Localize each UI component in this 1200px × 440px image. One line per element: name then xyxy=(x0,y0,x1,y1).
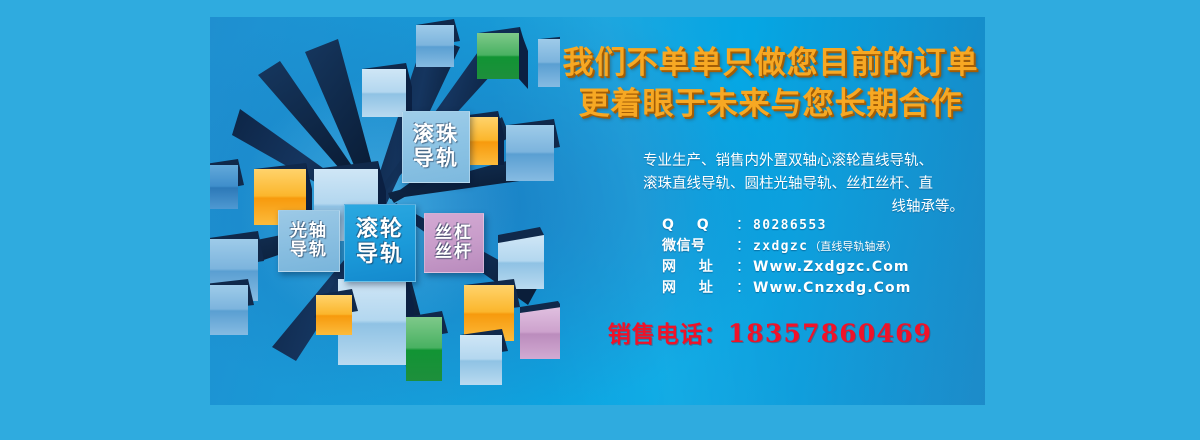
contact-label-wechat: 微信号 xyxy=(662,236,736,257)
contact-separator: ： xyxy=(736,257,750,278)
contact-value-website-2[interactable]: Www.Cnzxdg.Com xyxy=(753,278,911,299)
contact-label-website-2: 网 址 xyxy=(662,278,736,299)
product-tag-line2: 导轨 xyxy=(413,147,459,171)
contact-note-wechat: （直线导轨轴承） xyxy=(809,236,897,257)
contact-row-website-1: 网 址 ： Www.Zxdgzc.Com xyxy=(662,257,985,278)
sales-phone-number[interactable]: 18357860469 xyxy=(728,319,933,348)
description-line-2: 滚珠直线导轨、圆柱光轴导轨、丝杠丝杆、直 xyxy=(612,173,964,196)
promo-banner: 滚珠 导轨 光轴 导轨 滚轮 导轨 丝杠 丝杆 我们不单单只做您目前的订单 更着… xyxy=(210,17,985,405)
sales-phone: 销售电话：18357860469 xyxy=(560,315,980,349)
product-tag-gunlun-daogui: 滚轮 导轨 xyxy=(344,204,416,282)
contact-value-qq[interactable]: 80286553 xyxy=(753,215,827,236)
contact-separator: ： xyxy=(736,215,750,236)
headline-line-1: 我们不单单只做您目前的订单 xyxy=(558,43,983,84)
product-tag-line1: 光轴 xyxy=(290,222,328,241)
banner-content: 我们不单单只做您目前的订单 更着眼于未来与您长期合作 专业生产、销售内外置双轴心… xyxy=(550,17,985,405)
contact-info: Q Q ： 80286553 微信号 ： zxdgzc （直线导轨轴承） 网 址… xyxy=(662,215,985,299)
headline-line-2: 更着眼于未来与您长期合作 xyxy=(558,84,983,125)
product-tag-guangzhou-daogui: 光轴 导轨 xyxy=(278,210,340,272)
contact-row-website-2: 网 址 ： Www.Cnzxdg.Com xyxy=(662,278,985,299)
contact-label-website-1: 网 址 xyxy=(662,257,736,278)
product-tag-line1: 丝杠 xyxy=(435,224,473,243)
product-tag-line2: 导轨 xyxy=(356,243,404,268)
contact-label-qq: Q Q xyxy=(662,215,736,236)
contact-row-wechat: 微信号 ： zxdgzc （直线导轨轴承） xyxy=(662,236,985,257)
product-tag-line1: 滚珠 xyxy=(413,123,459,147)
product-tag-line2: 导轨 xyxy=(290,241,328,260)
headline: 我们不单单只做您目前的订单 更着眼于未来与您长期合作 xyxy=(558,43,983,125)
page-root: 滚珠 导轨 光轴 导轨 滚轮 导轨 丝杠 丝杆 我们不单单只做您目前的订单 更着… xyxy=(0,0,1200,440)
product-tag-line1: 滚轮 xyxy=(356,218,404,243)
contact-value-website-1[interactable]: Www.Zxdgzc.Com xyxy=(753,257,910,278)
sales-phone-label: 销售电话： xyxy=(608,322,728,348)
product-tag-sigang-sigan: 丝杠 丝杆 xyxy=(424,213,484,273)
description-line-1: 专业生产、销售内外置双轴心滚轮直线导轨、 xyxy=(612,150,964,173)
contact-separator: ： xyxy=(736,278,750,299)
description: 专业生产、销售内外置双轴心滚轮直线导轨、 滚珠直线导轨、圆柱光轴导轨、丝杠丝杆、… xyxy=(612,150,964,219)
product-tag-line2: 丝杆 xyxy=(435,243,473,262)
contact-separator: ： xyxy=(736,236,750,257)
contact-row-qq: Q Q ： 80286553 xyxy=(662,215,985,236)
product-tag-gunzhu-daogui: 滚珠 导轨 xyxy=(402,111,470,183)
contact-value-wechat[interactable]: zxdgzc xyxy=(753,236,808,257)
